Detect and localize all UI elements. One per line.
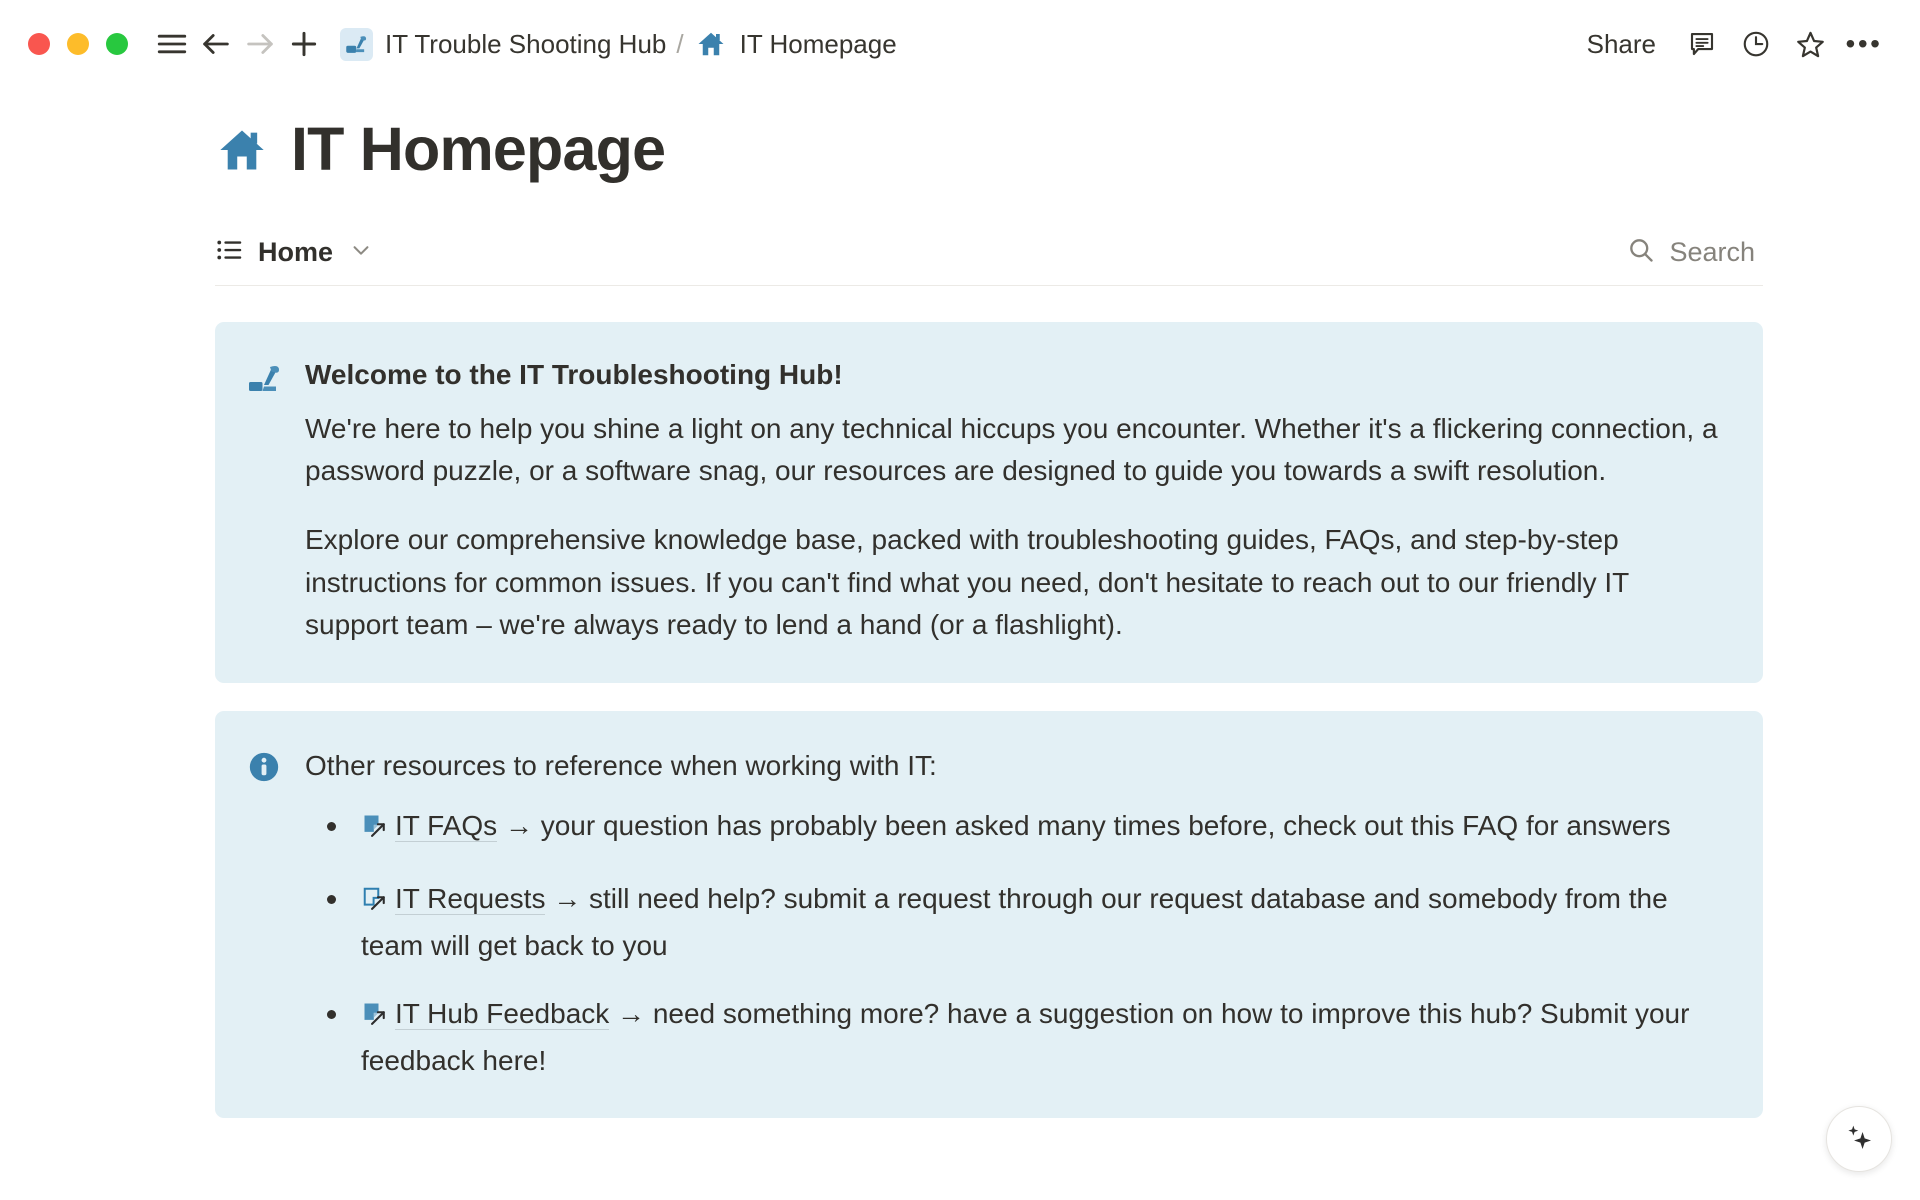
link-it-requests[interactable]: IT Requests (395, 883, 545, 915)
comment-icon[interactable] (1680, 22, 1724, 66)
breadcrumb-item-hub[interactable]: IT Trouble Shooting Hub (340, 28, 666, 61)
star-outline-icon[interactable] (1788, 22, 1832, 66)
callout-resources-lead: Other resources to reference when workin… (305, 745, 1723, 787)
hamburger-menu-icon[interactable] (150, 22, 194, 66)
arrow-left-icon[interactable] (194, 22, 238, 66)
flashlight-icon (245, 356, 283, 647)
ellipsis-icon[interactable]: ••• (1842, 22, 1886, 66)
callout-welcome-paragraph-1: We're here to help you shine a light on … (305, 408, 1723, 493)
resource-list: IT FAQs → your question has probably bee… (305, 805, 1723, 1082)
window-close-button[interactable] (28, 33, 50, 55)
share-button[interactable]: Share (1573, 23, 1670, 66)
breadcrumb-label-hub: IT Trouble Shooting Hub (385, 29, 666, 60)
search-label: Search (1669, 237, 1755, 268)
clock-history-icon[interactable] (1734, 22, 1778, 66)
page-root: IT Homepage Home (0, 116, 1920, 1118)
plus-icon[interactable] (282, 22, 326, 66)
sparkles-icon (1842, 1120, 1876, 1159)
page-link-icon (361, 998, 389, 1040)
link-it-faqs[interactable]: IT FAQs (395, 810, 497, 842)
callout-welcome-body: Welcome to the IT Troubleshooting Hub! W… (305, 356, 1723, 647)
page-title: IT Homepage (291, 116, 665, 183)
search-icon (1627, 236, 1655, 269)
page-content: IT Homepage Home (180, 116, 1740, 1118)
ai-assistant-button[interactable] (1826, 1106, 1892, 1172)
list-item-text: → your question has probably been asked … (497, 810, 1670, 841)
breadcrumb: IT Trouble Shooting Hub / IT Homepage (340, 27, 897, 61)
topbar-actions: Share ••• (1573, 22, 1886, 66)
callout-welcome: Welcome to the IT Troubleshooting Hub! W… (215, 322, 1763, 683)
page-link-outline-icon (361, 883, 389, 925)
window-minimize-button[interactable] (67, 33, 89, 55)
callout-welcome-paragraph-2: Explore our comprehensive knowledge base… (305, 519, 1723, 647)
view-tab-bar: Home Search (215, 235, 1763, 286)
window-maximize-button[interactable] (106, 33, 128, 55)
breadcrumb-item-homepage[interactable]: IT Homepage (694, 27, 897, 61)
list-view-icon (215, 235, 245, 270)
list-item: IT FAQs → your question has probably bee… (305, 805, 1723, 852)
window-controls (28, 33, 128, 55)
link-it-hub-feedback[interactable]: IT Hub Feedback (395, 998, 609, 1030)
page-header: IT Homepage (215, 116, 1740, 183)
flashlight-icon (340, 28, 373, 61)
search-button[interactable]: Search (1627, 236, 1763, 269)
tab-home-label: Home (258, 237, 333, 268)
info-circle-icon (245, 745, 283, 1082)
chevron-down-icon[interactable] (350, 239, 372, 266)
window-titlebar: IT Trouble Shooting Hub / IT Homepage Sh… (0, 0, 1920, 88)
list-item: IT Requests → still need help? submit a … (305, 878, 1723, 967)
arrow-right-icon[interactable] (238, 22, 282, 66)
house-icon (694, 27, 728, 61)
breadcrumb-separator: / (676, 29, 683, 60)
list-item: IT Hub Feedback → need something more? h… (305, 993, 1723, 1082)
list-item-text: → still need help? submit a request thro… (361, 883, 1668, 961)
callout-welcome-heading: Welcome to the IT Troubleshooting Hub! (305, 356, 1723, 394)
tab-home[interactable]: Home (215, 235, 372, 270)
page-link-icon (361, 810, 389, 852)
house-icon (215, 123, 269, 177)
breadcrumb-label-homepage: IT Homepage (740, 29, 897, 60)
callout-resources: Other resources to reference when workin… (215, 711, 1763, 1118)
callout-resources-body: Other resources to reference when workin… (305, 745, 1723, 1082)
